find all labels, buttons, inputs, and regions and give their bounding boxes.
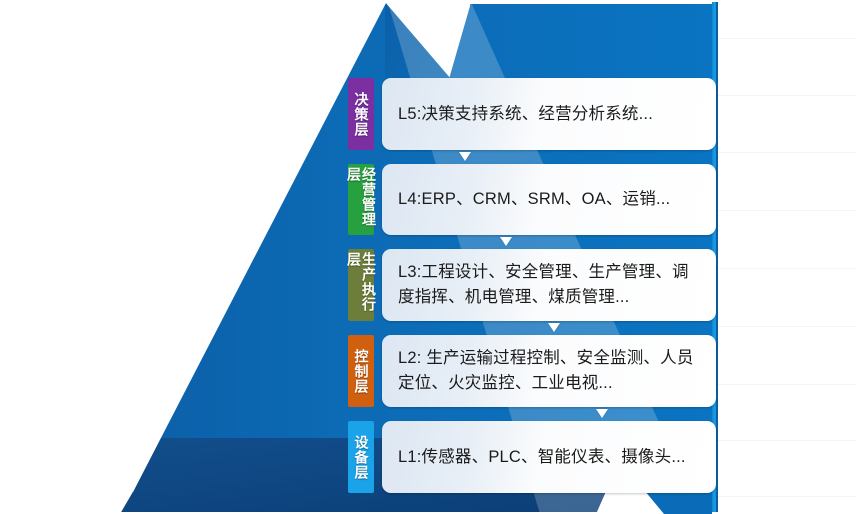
layer-tag-l3: 生产执行层 — [348, 249, 374, 321]
layer-text-l1: L1:传感器、PLC、智能仪表、摄像头... — [398, 445, 686, 470]
layer-tag-l1: 设备层 — [348, 421, 374, 493]
down-triangle-icon-l5 — [459, 152, 471, 161]
layer-card-l4[interactable]: L4:ERP、CRM、SRM、OA、运销... — [382, 164, 716, 235]
down-triangle-icon-l3 — [548, 323, 560, 332]
layer-row-l2[interactable]: 控制层 L2: 生产运输过程控制、安全监测、人员定位、火灾监控、工业电视... — [348, 335, 716, 407]
layer-tag-l4: 经营管理层 — [348, 164, 374, 235]
layer-row-l3[interactable]: 生产执行层 L3:工程设计、安全管理、生产管理、调度指挥、机电管理、煤质管理..… — [348, 249, 716, 321]
layer-card-l1[interactable]: L1:传感器、PLC、智能仪表、摄像头... — [382, 421, 716, 493]
layer-card-l3[interactable]: L3:工程设计、安全管理、生产管理、调度指挥、机电管理、煤质管理... — [382, 249, 716, 321]
layer-tag-l2: 控制层 — [348, 335, 374, 407]
layer-stack: 决策层 L5:决策支持系统、经营分析系统... 经营管理层 L4:ERP、CRM… — [348, 78, 720, 498]
layer-card-l2[interactable]: L2: 生产运输过程控制、安全监测、人员定位、火灾监控、工业电视... — [382, 335, 716, 407]
layer-row-l5[interactable]: 决策层 L5:决策支持系统、经营分析系统... — [348, 78, 716, 150]
layer-card-l5[interactable]: L5:决策支持系统、经营分析系统... — [382, 78, 716, 150]
layer-row-l1[interactable]: 设备层 L1:传感器、PLC、智能仪表、摄像头... — [348, 421, 716, 493]
layer-tag-l5: 决策层 — [348, 78, 374, 150]
layer-text-l5: L5:决策支持系统、经营分析系统... — [398, 102, 653, 127]
diagram-canvas: 决策层 L5:决策支持系统、经营分析系统... 经营管理层 L4:ERP、CRM… — [0, 0, 856, 514]
down-triangle-icon-l4 — [500, 237, 512, 246]
layer-row-l4[interactable]: 经营管理层 L4:ERP、CRM、SRM、OA、运销... — [348, 164, 716, 235]
layer-text-l3: L3:工程设计、安全管理、生产管理、调度指挥、机电管理、煤质管理... — [398, 260, 702, 310]
down-triangle-icon-l2 — [596, 409, 608, 418]
layer-text-l2: L2: 生产运输过程控制、安全监测、人员定位、火灾监控、工业电视... — [398, 346, 702, 396]
layer-text-l4: L4:ERP、CRM、SRM、OA、运销... — [398, 187, 670, 212]
